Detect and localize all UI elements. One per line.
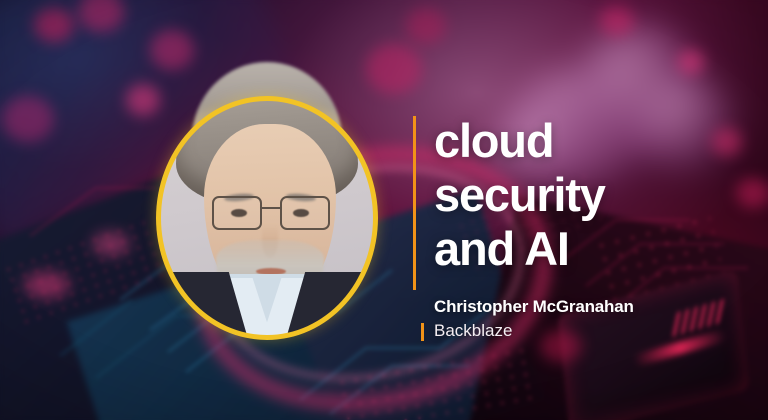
title-row: cloud security and AI bbox=[413, 114, 743, 276]
title-line-3: and AI bbox=[434, 222, 743, 276]
speaker-portrait bbox=[156, 96, 378, 340]
title-accent-bar bbox=[413, 116, 416, 290]
bokeh-light bbox=[406, 8, 446, 44]
speaker-name: Christopher McGranahan bbox=[413, 296, 743, 318]
bokeh-light bbox=[126, 84, 160, 116]
title-line-2: security bbox=[434, 168, 743, 222]
org-accent-bar bbox=[421, 323, 424, 341]
speaker-organization: Backblaze bbox=[434, 320, 743, 342]
bokeh-light bbox=[150, 30, 194, 70]
portrait-ring-border bbox=[156, 96, 378, 340]
bokeh-light bbox=[366, 44, 422, 94]
title-card-graphic: cloud security and AI Christopher McGran… bbox=[0, 0, 768, 420]
bokeh-light bbox=[678, 50, 704, 74]
speaker-org-row: Backblaze bbox=[413, 320, 743, 342]
title-text-block: cloud security and AI Christopher McGran… bbox=[413, 114, 743, 276]
bokeh-light bbox=[24, 272, 70, 298]
bokeh-light bbox=[34, 8, 74, 42]
bokeh-light bbox=[92, 232, 130, 256]
bokeh-light bbox=[2, 96, 54, 142]
bokeh-light bbox=[600, 6, 634, 36]
title-line-1: cloud bbox=[434, 114, 743, 168]
speaker-credit-block: Christopher McGranahan Backblaze bbox=[413, 296, 743, 342]
